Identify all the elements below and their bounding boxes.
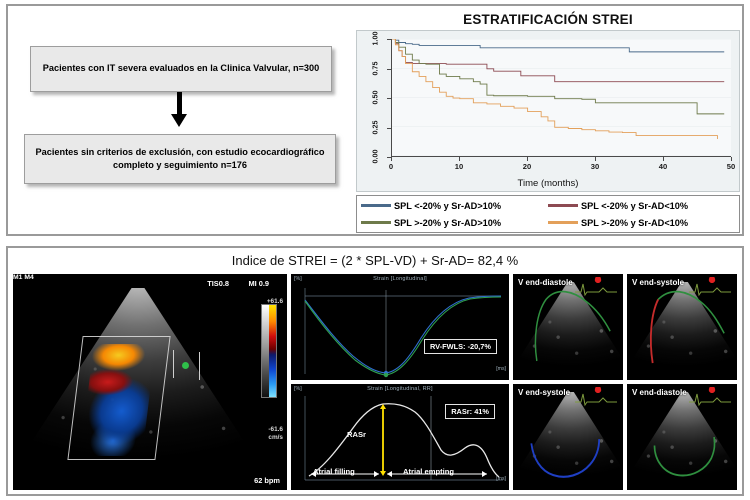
frame-label-2: V end-systole bbox=[518, 388, 570, 397]
survival-curve-2 bbox=[392, 39, 724, 114]
x-tick-label: 20 bbox=[523, 162, 531, 171]
traced-frames-row-bottom: V end-systole V end-diastole bbox=[513, 384, 737, 490]
legend-label-3: SPL >-20% y Sr-AD<10% bbox=[581, 218, 688, 228]
colorbar-label: M1 M4 bbox=[13, 274, 287, 281]
y-tick-label: 0.25 bbox=[371, 117, 380, 137]
rv-strain-curves bbox=[291, 274, 509, 380]
x-tick-label: 40 bbox=[659, 162, 667, 171]
atrial-filling-label: Atrial filling bbox=[313, 467, 355, 476]
bottom-panel: Indice de STREI = (2 * SPL-VD) + Sr-AD= … bbox=[6, 246, 744, 496]
legend-item-0[interactable]: SPL <-20% y Sr-AD>10% bbox=[361, 201, 548, 211]
ecg-icon bbox=[687, 387, 733, 407]
frame-label-1: V end-systole bbox=[632, 278, 684, 287]
chart-title: ESTRATIFICACIÓN STREI bbox=[352, 8, 744, 30]
legend-item-2[interactable]: SPL >-20% y Sr-AD>10% bbox=[361, 218, 548, 228]
legend-label-0: SPL <-20% y Sr-AD>10% bbox=[394, 201, 501, 211]
y-tick-label: 0.50 bbox=[371, 88, 380, 108]
survival-curves bbox=[392, 39, 731, 156]
frame-v-end-diastole-2[interactable]: V end-diastole bbox=[627, 384, 737, 490]
ecg-icon bbox=[687, 277, 733, 297]
strei-index-title: Indice de STREI = (2 * SPL-VD) + Sr-AD= … bbox=[8, 248, 742, 272]
strain-top-time-unit: [ms] bbox=[496, 366, 506, 372]
study-flowchart: Pacientes con IT severa evaluados en la … bbox=[16, 12, 346, 228]
legend-label-2: SPL >-20% y Sr-AD>10% bbox=[394, 218, 501, 228]
x-tick-label: 0 bbox=[389, 162, 393, 171]
colorbar-unit: cm/s bbox=[268, 434, 283, 441]
legend-item-3[interactable]: SPL >-20% y Sr-AD<10% bbox=[548, 218, 735, 228]
top-panel: Pacientes con IT severa evaluados en la … bbox=[6, 4, 744, 236]
colorbar-min: -61.6 bbox=[268, 426, 283, 433]
x-tick-mark bbox=[527, 157, 528, 161]
y-tick-mark bbox=[387, 69, 391, 70]
chart-legend: SPL <-20% y Sr-AD>10%SPL <-20% y Sr-AD<1… bbox=[356, 195, 740, 233]
rv-strain-panel[interactable]: [%] Strain [Longitudinal] [ms] RV-FWLS: … bbox=[291, 274, 509, 380]
x-tick-mark bbox=[391, 157, 392, 161]
frame-label-0: V end-diastole bbox=[518, 278, 573, 287]
y-tick-label: 0.00 bbox=[371, 147, 380, 167]
x-axis-title: Time (months) bbox=[357, 178, 739, 189]
colorbar-max: +61.6 bbox=[267, 298, 283, 305]
mi-label: MI 0.9 bbox=[248, 279, 269, 288]
legend-swatch-2 bbox=[361, 221, 391, 223]
rasr-annotation: RASr: 41% bbox=[445, 404, 495, 419]
survival-curve-3 bbox=[392, 39, 717, 139]
traced-frames-row-top: V end-diastole V end-systole bbox=[513, 274, 737, 380]
flowchart-box-enrolled: Pacientes con IT severa evaluados en la … bbox=[30, 46, 332, 92]
traced-frames-grid: V end-diastole V end-systole bbox=[513, 274, 737, 490]
velocity-colorbar bbox=[261, 304, 277, 398]
caliper-marker bbox=[173, 350, 207, 380]
frame-v-end-diastole-1[interactable]: V end-diastole bbox=[513, 274, 623, 380]
x-tick-label: 50 bbox=[727, 162, 735, 171]
plot-area bbox=[391, 39, 731, 157]
strain-top-header: Strain [Longitudinal] bbox=[291, 276, 509, 282]
down-arrow-icon bbox=[175, 92, 183, 128]
color-doppler-echo[interactable]: TIS0.8 MI 0.9 62 bpm M1 M4 +61.6 -61.6 c… bbox=[13, 274, 287, 490]
x-tick-mark bbox=[663, 157, 664, 161]
ecg-icon bbox=[573, 277, 619, 297]
ra-strain-panel[interactable]: [%] Strain [Longitudinal, RR] [ms] bbox=[291, 384, 509, 490]
strain-column: [%] Strain [Longitudinal] [ms] RV-FWLS: … bbox=[291, 274, 509, 490]
x-tick-label: 10 bbox=[455, 162, 463, 171]
flowchart-box-included: Pacientes sin criterios de exclusión, co… bbox=[24, 134, 336, 184]
x-tick-mark bbox=[459, 157, 460, 161]
heart-rate-label: 62 bpm bbox=[254, 476, 280, 485]
y-tick-mark bbox=[387, 128, 391, 129]
tis-label: TIS0.8 bbox=[207, 279, 229, 288]
frame-v-end-systole-2[interactable]: V end-systole bbox=[513, 384, 623, 490]
y-tick-mark bbox=[387, 39, 391, 40]
ecg-icon bbox=[573, 387, 619, 407]
atrial-emptying-label: Atrial empting bbox=[403, 467, 454, 476]
rv-fwls-annotation: RV-FWLS: -20,7% bbox=[424, 339, 497, 354]
legend-swatch-0 bbox=[361, 204, 391, 206]
chart-frame: 0.000.250.500.751.00 01020304050 Time (m… bbox=[356, 30, 740, 192]
echo-images-row: TIS0.8 MI 0.9 62 bpm M1 M4 +61.6 -61.6 c… bbox=[13, 274, 737, 490]
y-tick-label: 1.00 bbox=[371, 29, 380, 49]
strain-bottom-header: Strain [Longitudinal, RR] bbox=[291, 386, 509, 392]
legend-swatch-1 bbox=[548, 204, 578, 206]
legend-label-1: SPL <-20% y Sr-AD<10% bbox=[581, 201, 688, 211]
y-tick-mark bbox=[387, 98, 391, 99]
legend-item-1[interactable]: SPL <-20% y Sr-AD<10% bbox=[548, 201, 735, 211]
strain-bottom-time-unit: [ms] bbox=[496, 476, 506, 482]
rasr-peak-label: RASr bbox=[347, 430, 366, 439]
x-tick-label: 30 bbox=[591, 162, 599, 171]
survival-chart-block: ESTRATIFICACIÓN STREI 0.000.250.500.751.… bbox=[352, 8, 744, 236]
survival-curve-0 bbox=[392, 39, 724, 52]
legend-swatch-3 bbox=[548, 221, 578, 223]
x-tick-mark bbox=[731, 157, 732, 161]
frame-v-end-systole-1[interactable]: V end-systole bbox=[627, 274, 737, 380]
y-tick-label: 0.75 bbox=[371, 58, 380, 78]
x-tick-mark bbox=[595, 157, 596, 161]
frame-label-3: V end-diastole bbox=[632, 388, 687, 397]
